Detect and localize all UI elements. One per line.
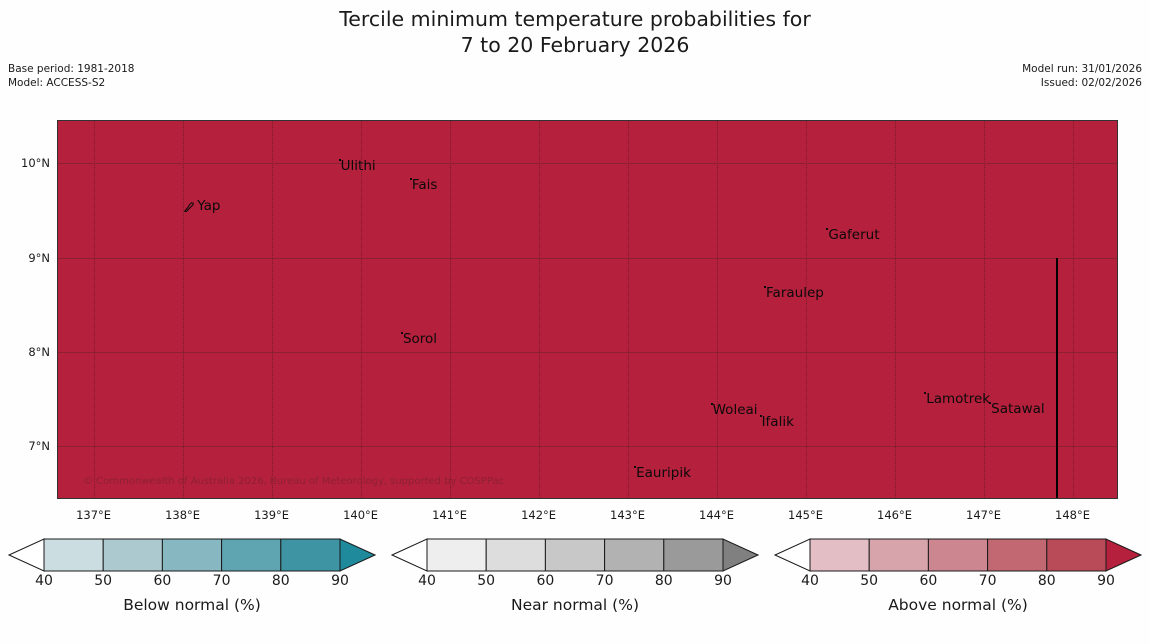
colorbar-segment	[103, 539, 162, 571]
colorbar-below-normal[interactable]: 405060708090Below normal (%)	[8, 538, 376, 638]
map-place-label: Sorol	[401, 331, 437, 347]
colorbar-tick-label: 70	[596, 573, 614, 589]
y-axis-tick-label: 8°N	[28, 345, 50, 359]
colorbar-axis-label: Below normal (%)	[8, 596, 376, 614]
colorbar-segment	[664, 539, 723, 571]
colorbar-tick-label: 90	[1097, 573, 1115, 589]
colorbar-tick-label: 50	[477, 573, 495, 589]
colorbar-axis-label: Near normal (%)	[391, 596, 759, 614]
gridline-vertical	[895, 121, 896, 498]
colorbar-tick-label: 40	[418, 573, 436, 589]
colorbar-over-arrow	[340, 539, 375, 571]
gridline-vertical	[628, 121, 629, 498]
colorbar-tick-label: 80	[655, 573, 673, 589]
colorbar-above-normal[interactable]: 405060708090Above normal (%)	[774, 538, 1142, 638]
colorbar-tick-label: 80	[1038, 573, 1056, 589]
coastline-feature	[1056, 258, 1058, 498]
colorbar-segment	[810, 539, 869, 571]
gridline-horizontal	[58, 352, 1117, 353]
x-axis-tick-label: 140°E	[343, 508, 378, 522]
place-name-text: Yap	[197, 198, 220, 214]
colorbar-segment	[162, 539, 221, 571]
place-name-text: Gaferut	[828, 227, 879, 243]
gridline-vertical	[717, 121, 718, 498]
place-name-text: Eauripik	[636, 465, 691, 481]
colorbar-under-arrow	[9, 539, 44, 571]
colorbar-tick-label: 60	[536, 573, 554, 589]
gridline-vertical	[539, 121, 540, 498]
map-place-label: Ifalik	[760, 414, 794, 430]
x-axis-tick-label: 142°E	[521, 508, 556, 522]
page-title: Tercile minimum temperature probabilitie…	[0, 6, 1150, 58]
x-axis-tick-label: 145°E	[788, 508, 823, 522]
x-axis-tick-label: 143°E	[610, 508, 645, 522]
place-name-text: Sorol	[403, 331, 437, 347]
copyright-text: © Commonwealth of Australia 2026, Bureau…	[83, 476, 504, 487]
map-place-label: Lamotrek	[924, 391, 990, 407]
x-axis-tick-label: 139°E	[254, 508, 289, 522]
colorbar-axis-label: Above normal (%)	[774, 596, 1142, 614]
metadata-left: Base period: 1981-2018 Model: ACCESS-S2	[8, 63, 134, 90]
map-place-label: Gaferut	[826, 227, 879, 243]
gridline-horizontal	[58, 258, 1117, 259]
colorbar-segment	[486, 539, 545, 571]
gridline-vertical	[183, 121, 184, 498]
map-plot-area[interactable]: YapUlithiFaisSorolGaferutFaraulepWoleaiI…	[57, 120, 1118, 499]
place-name-text: Faraulep	[766, 285, 824, 301]
x-axis-tick-label: 138°E	[165, 508, 200, 522]
colorbar-segment	[545, 539, 604, 571]
map-place-label: Yap	[197, 198, 220, 214]
map-place-label: Faraulep	[764, 285, 824, 301]
colorbar-swatches	[8, 538, 376, 572]
gridline-vertical	[450, 121, 451, 498]
colorbar-segment	[988, 539, 1047, 571]
colorbar-tick-label: 90	[331, 573, 349, 589]
x-axis-tick-label: 144°E	[699, 508, 734, 522]
colorbar-segment	[928, 539, 987, 571]
colorbar-over-arrow	[1106, 539, 1141, 571]
place-name-text: Ulithi	[341, 158, 376, 174]
map-place-label: Ulithi	[339, 158, 376, 174]
colorbar-segment	[281, 539, 340, 571]
colorbar-segment	[222, 539, 281, 571]
place-name-text: Fais	[412, 177, 438, 193]
y-axis-tick-label: 10°N	[21, 156, 50, 170]
colorbar-tick-label: 50	[94, 573, 112, 589]
colorbar-over-arrow	[723, 539, 758, 571]
x-axis-tick-label: 137°E	[76, 508, 111, 522]
gridline-horizontal	[58, 163, 1117, 164]
base-period-text: Base period: 1981-2018	[8, 63, 134, 77]
colorbar-segment	[1047, 539, 1106, 571]
longitude-axis: 137°E138°E139°E140°E141°E142°E143°E144°E…	[0, 508, 1150, 526]
map-place-label: Satawal	[989, 401, 1044, 417]
colorbar-tick-label: 70	[213, 573, 231, 589]
gridline-horizontal	[58, 446, 1117, 447]
x-axis-tick-label: 147°E	[966, 508, 1001, 522]
gridline-vertical	[94, 121, 95, 498]
colorbar-tick-label: 70	[979, 573, 997, 589]
colorbar-tick-label: 60	[153, 573, 171, 589]
place-name-text: Lamotrek	[926, 391, 990, 407]
issued-text: Issued: 02/02/2026	[1022, 77, 1142, 91]
gridline-vertical	[1073, 121, 1074, 498]
colorbar-near-normal[interactable]: 405060708090Near normal (%)	[391, 538, 759, 638]
colorbar-swatches	[391, 538, 759, 572]
map-place-label: Eauripik	[634, 465, 691, 481]
gridline-vertical	[361, 121, 362, 498]
colorbar-segment	[605, 539, 664, 571]
colorbar-segment	[869, 539, 928, 571]
colorbar-under-arrow	[775, 539, 810, 571]
colorbar-segment	[44, 539, 103, 571]
x-axis-tick-label: 146°E	[877, 508, 912, 522]
place-name-text: Ifalik	[762, 414, 794, 430]
gridline-vertical	[806, 121, 807, 498]
map-place-label: Woleai	[711, 402, 758, 418]
island-outline-icon	[183, 201, 197, 214]
colorbar-tick-label: 60	[919, 573, 937, 589]
place-name-text: Satawal	[991, 401, 1044, 417]
colorbar-tick-label: 80	[272, 573, 290, 589]
gridline-vertical	[272, 121, 273, 498]
colorbar-tick-label: 40	[801, 573, 819, 589]
colorbar-segment	[427, 539, 486, 571]
x-axis-tick-label: 141°E	[432, 508, 467, 522]
y-axis-tick-label: 7°N	[28, 439, 50, 453]
colorbar-tick-label: 40	[35, 573, 53, 589]
colorbar-tick-label: 90	[714, 573, 732, 589]
colorbar-tick-label: 50	[860, 573, 878, 589]
place-name-text: Woleai	[713, 402, 758, 418]
y-axis-tick-label: 9°N	[28, 251, 50, 265]
model-text: Model: ACCESS-S2	[8, 77, 134, 91]
colorbar-under-arrow	[392, 539, 427, 571]
latitude-axis: 10°N9°N8°N7°N	[0, 120, 57, 499]
metadata-right: Model run: 31/01/2026 Issued: 02/02/2026	[1022, 63, 1142, 90]
map-place-label: Fais	[410, 177, 438, 193]
x-axis-tick-label: 148°E	[1055, 508, 1090, 522]
model-run-text: Model run: 31/01/2026	[1022, 63, 1142, 77]
gridline-vertical	[984, 121, 985, 498]
colorbar-swatches	[774, 538, 1142, 572]
